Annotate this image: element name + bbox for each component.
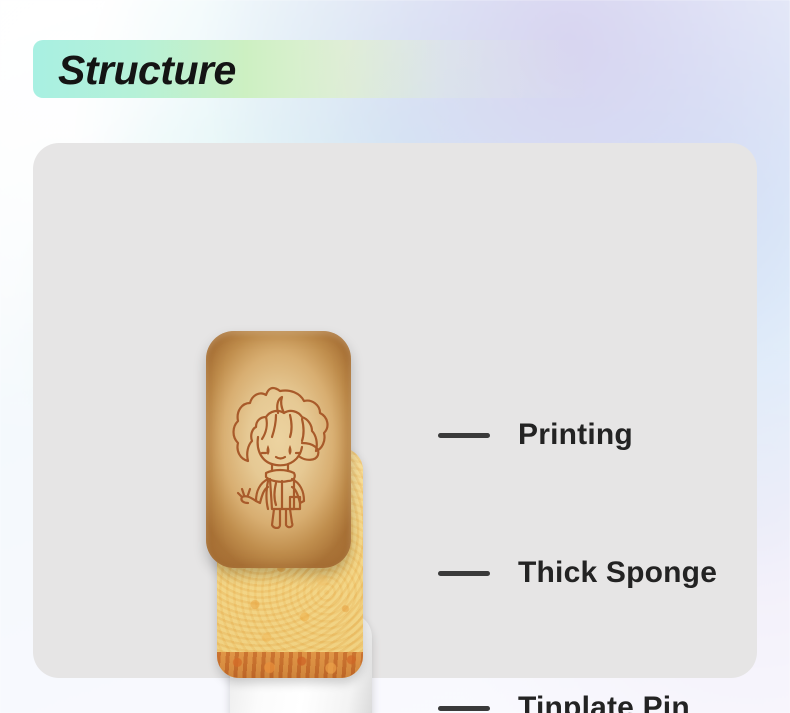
- legend-dash-icon: [438, 433, 490, 438]
- legend-label-printing: Printing: [518, 418, 633, 452]
- legend-dash-icon: [438, 571, 490, 576]
- product-layer-stack: [33, 143, 757, 678]
- legend-dash-icon: [438, 706, 490, 711]
- sponge-bottom-edge: [217, 652, 363, 678]
- layer-printing: [206, 331, 351, 568]
- legend-item-thick-sponge: Thick Sponge: [438, 553, 717, 593]
- chibi-character-icon: [224, 379, 336, 529]
- page-title: Structure: [58, 42, 236, 98]
- structure-card: Printing Thick Sponge Tinplate Pin: [33, 143, 757, 678]
- legend-item-printing: Printing: [438, 415, 633, 455]
- legend-label-thick-sponge: Thick Sponge: [518, 556, 717, 590]
- legend-item-tinplate-pin: Tinplate Pin: [438, 688, 690, 713]
- legend-label-tinplate-pin: Tinplate Pin: [518, 691, 690, 713]
